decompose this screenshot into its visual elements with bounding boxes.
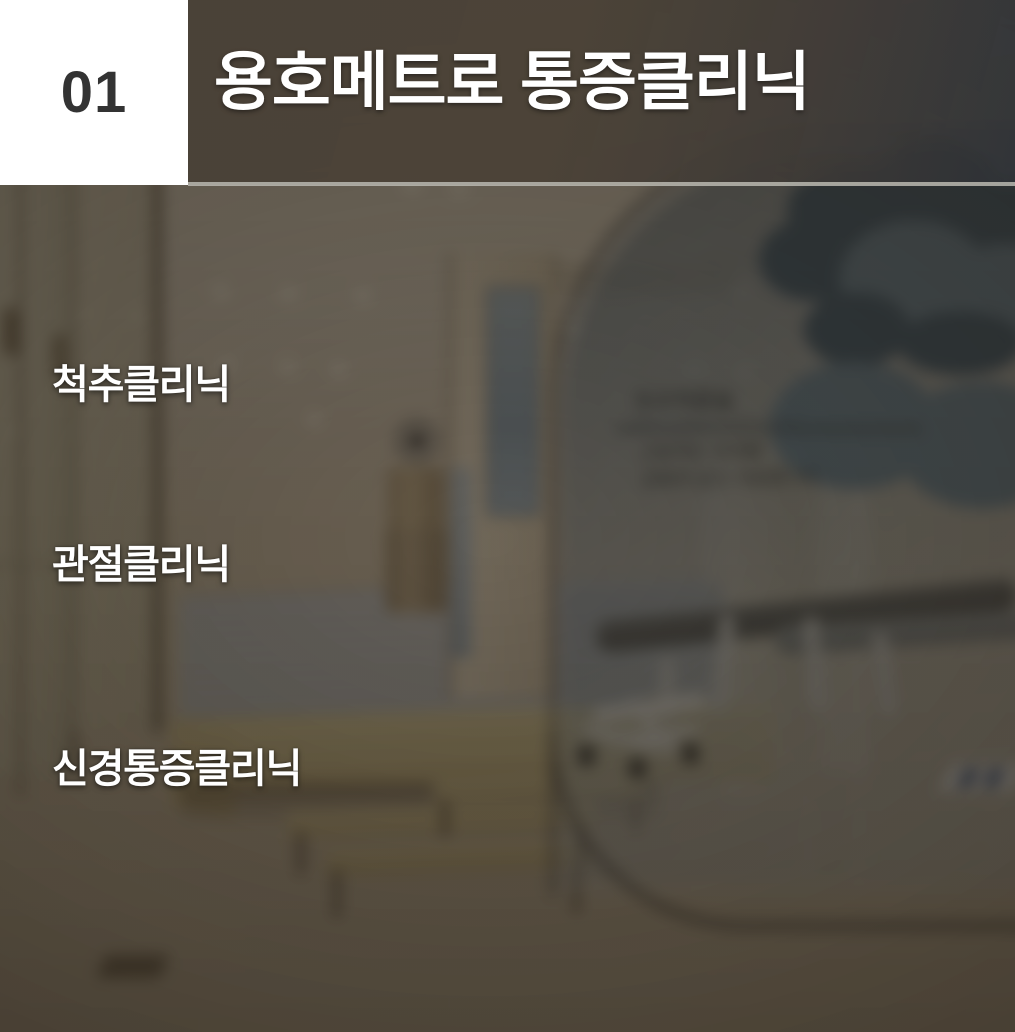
slide-canvas: 도수치료실 METRO SPINE & PAIN CLINIC 근본적인 문제를… (0, 0, 1015, 1032)
clinic-label-joint: 관절클리닉 (52, 532, 230, 590)
clinic-label-nerve-pain: 신경통증클리닉 (52, 736, 301, 794)
clinic-label-spine: 척추클리닉 (52, 352, 230, 410)
clinic-label-group: 척추클리닉 관절클리닉 신경통증클리닉 (0, 0, 1015, 1032)
